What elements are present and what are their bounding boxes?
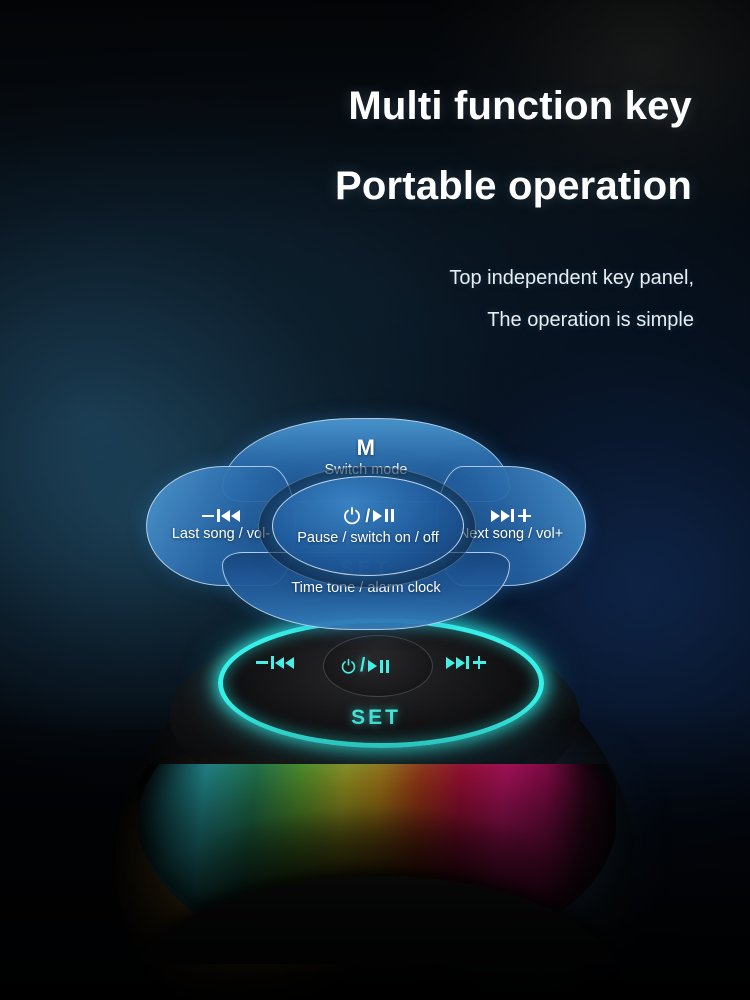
subheadline-line-1: Top independent key panel, [54,268,694,288]
key-function-diagram: M Switch mode Last song / vol- Next song… [146,418,586,630]
next-track-volume-up-icon [491,509,531,522]
device-set-label: SET [218,706,534,730]
previous-track-volume-down-icon [202,509,240,522]
rgb-light-crescent [138,764,616,964]
diagram-key-previous-label: Last song / vol- [172,527,270,542]
headline-line-1: Multi function key [52,86,692,126]
device-previous-track-volume-down-icon[interactable] [256,656,294,669]
device-power-play-pause-icon[interactable]: / [340,655,389,677]
headline: Multi function key Portable operation [52,86,692,206]
product-promo-image: Multi function key Portable operation To… [0,0,750,1000]
mode-m-icon: M [357,437,376,459]
diagram-key-power[interactable]: / Pause / switch on / off [272,476,464,576]
speaker-base-shadow [180,972,580,1000]
diagram-key-power-label: Pause / switch on / off [297,531,439,546]
subheadline-line-2: The operation is simple [54,310,694,330]
device-next-track-volume-up-icon[interactable] [446,656,486,669]
power-play-pause-icon: / [342,506,394,526]
device-control-panel[interactable]: / SET [218,618,534,738]
subheadline: Top independent key panel, The operation… [54,268,694,330]
headline-line-2: Portable operation [52,166,692,206]
